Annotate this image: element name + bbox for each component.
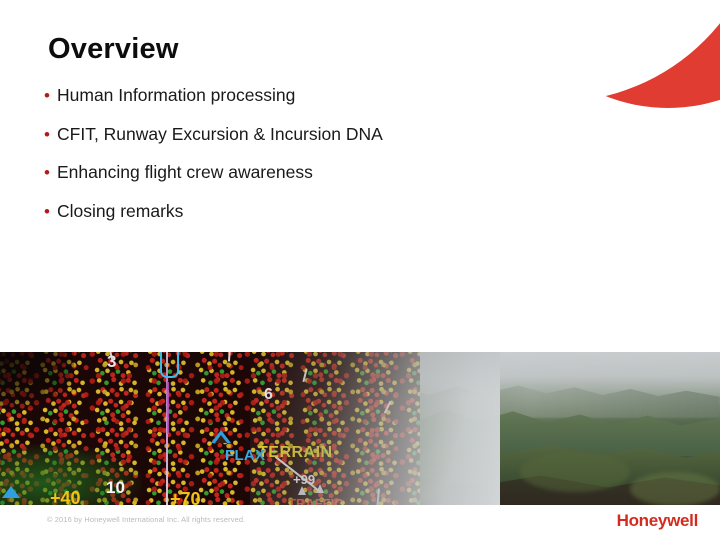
nd-terrain-annunciation: TERRAIN: [258, 445, 333, 461]
slide-footer: © 2016 by Honeywell International Inc. A…: [0, 505, 720, 540]
list-item: • Enhancing flight crew awareness: [44, 161, 664, 184]
honeywell-logo: Honeywell: [617, 511, 698, 531]
traffic-triangle-icon: [211, 430, 231, 443]
bullet-marker-icon: •: [44, 200, 57, 223]
list-item-label: Human Information processing: [57, 84, 295, 107]
nd-elevation-label-40: +40: [50, 489, 81, 505]
nd-elevation-label-99: +99: [293, 473, 315, 486]
list-item: • CFIT, Runway Excursion & Incursion DNA: [44, 123, 664, 146]
nd-range-label-10: 10: [106, 479, 125, 496]
range-arc-outer: [0, 352, 420, 505]
magenta-course-segment: [167, 382, 169, 434]
page-title: Overview: [48, 33, 179, 66]
list-item: • Closing remarks: [44, 200, 664, 223]
nd-flax-label: FLAX: [225, 448, 265, 463]
bullet-marker-icon: •: [44, 123, 57, 146]
list-item-label: Closing remarks: [57, 200, 183, 223]
list-item-label: CFIT, Runway Excursion & Incursion DNA: [57, 123, 383, 146]
nd-traffic-annunciation: TRAFFIC: [288, 497, 344, 505]
terrain-navigation-display: 3 6 10 +40 +70 +99 TERRAIN FLAX TRAFFIC: [0, 352, 420, 505]
aircraft-symbol-icon: [160, 352, 179, 378]
bullet-marker-icon: •: [44, 84, 57, 107]
climb-arrow-icon: [298, 486, 306, 495]
traffic-triangle-icon: [2, 486, 20, 498]
nd-heading-label-3: 3: [107, 353, 116, 370]
vegetation-patch: [630, 472, 720, 505]
nd-heading-label-6: 6: [264, 387, 273, 403]
nd-elevation-label-70: +70: [170, 490, 201, 505]
slide-image-band: 3 6 10 +40 +70 +99 TERRAIN FLAX TRAFFIC: [0, 352, 720, 505]
list-item-label: Enhancing flight crew awareness: [57, 161, 313, 184]
list-item: • Human Information processing: [44, 84, 664, 107]
bullet-list: • Human Information processing • CFIT, R…: [44, 84, 664, 238]
vegetation-patch: [520, 452, 630, 492]
bullet-marker-icon: •: [44, 161, 57, 184]
copyright-notice: © 2016 by Honeywell International Inc. A…: [47, 515, 245, 524]
presentation-slide: Overview • Human Information processing …: [0, 0, 720, 540]
